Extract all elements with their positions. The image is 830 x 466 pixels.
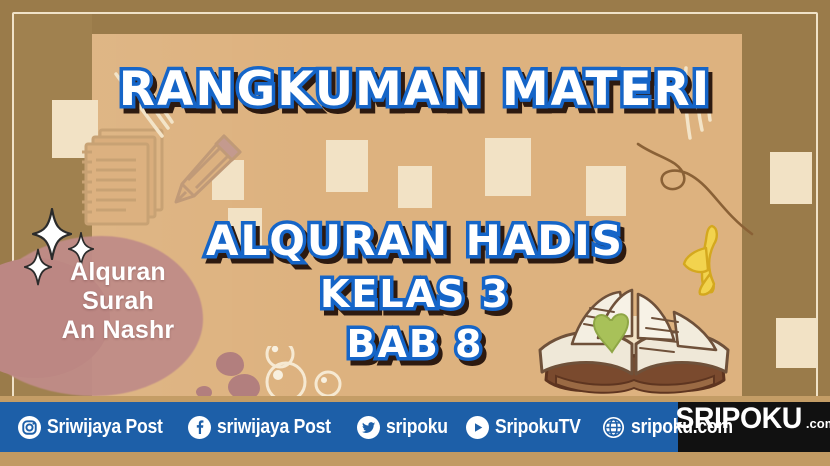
badge-line-1: Alquran: [18, 258, 218, 287]
sparkle-star-icon: [398, 166, 432, 208]
brand-suffix: .com: [806, 416, 830, 431]
sparkle-star-icon: [770, 152, 812, 204]
instagram-icon: [18, 416, 41, 439]
facebook-icon: [188, 416, 211, 439]
footer-item-youtube[interactable]: SripokuTV: [466, 416, 592, 439]
footer-bar: Sriwijaya Post sriwijaya Post sripoku: [0, 402, 830, 452]
footer-label-instagram: Sriwijaya Post: [47, 416, 163, 439]
sparkle-star-icon: [586, 166, 626, 216]
brand-logo[interactable]: SRIPOKU .com: [678, 402, 830, 452]
brand-name: SRIPOKU: [675, 402, 802, 436]
sparkle-star-icon: [485, 138, 531, 196]
youtube-icon: [466, 416, 489, 439]
sparkle-star-icon: [326, 140, 368, 192]
footer-social-list: Sriwijaya Post sriwijaya Post sripoku: [0, 416, 678, 439]
poster-canvas: RANGKUMAN MATERI ALQURAN HADIS KELAS 3 B…: [0, 0, 830, 466]
footer-item-twitter[interactable]: sripoku: [357, 416, 456, 439]
globe-icon: [602, 416, 625, 439]
badge-line-2: Surah: [18, 287, 218, 316]
footer-label-youtube: SripokuTV: [495, 416, 581, 439]
twitter-icon: [357, 416, 380, 439]
footer-item-instagram[interactable]: Sriwijaya Post: [18, 416, 178, 439]
footer-bottom-strip: [0, 452, 830, 466]
footer-label-facebook: sriwijaya Post: [217, 416, 331, 439]
page-title: RANGKUMAN MATERI: [0, 62, 830, 117]
footer-item-facebook[interactable]: sriwijaya Post: [188, 416, 346, 439]
badge-text: Alquran Surah An Nashr: [18, 258, 218, 345]
badge-line-3: An Nashr: [18, 316, 218, 345]
footer-label-twitter: sripoku: [386, 416, 448, 439]
